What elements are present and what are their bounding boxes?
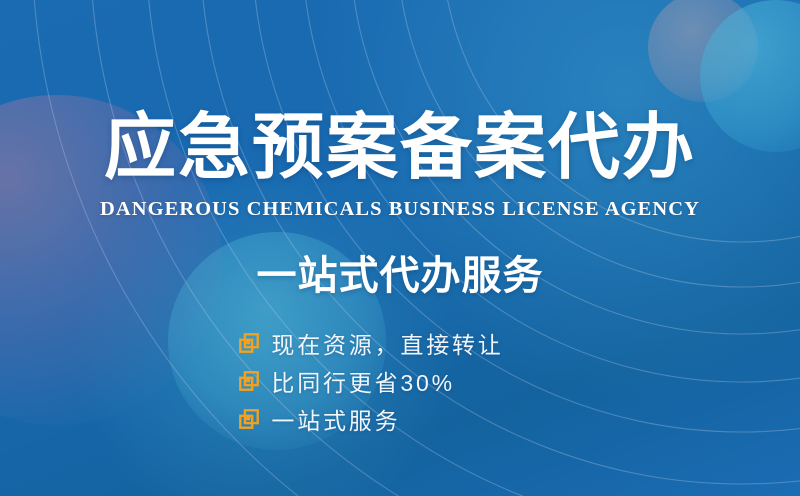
overlapping-squares-icon [238,332,260,354]
list-item-label: 现在资源，直接转让 [271,326,503,360]
list-item: 比同行更省30% [238,365,503,397]
chinese-subtitle: 一站式代办服务 [257,243,544,301]
list-item-label: 一站式服务 [271,402,400,436]
feature-list: 现在资源，直接转让 比同行更省30% 一站式服务 [238,327,503,435]
overlapping-squares-icon [238,408,260,430]
overlapping-squares-icon [238,370,260,392]
promo-banner: 应急预案备案代办 DANGEROUS CHEMICALS BUSINESS LI… [0,0,800,496]
banner-content: 应急预案备案代办 DANGEROUS CHEMICALS BUSINESS LI… [0,0,800,496]
list-item-label: 比同行更省30% [271,364,454,398]
english-subtitle: DANGEROUS CHEMICALS BUSINESS LICENSE AGE… [100,198,700,221]
list-item: 现在资源，直接转让 [238,327,503,359]
page-title: 应急预案备案代办 [104,112,696,184]
list-item: 一站式服务 [238,403,503,435]
